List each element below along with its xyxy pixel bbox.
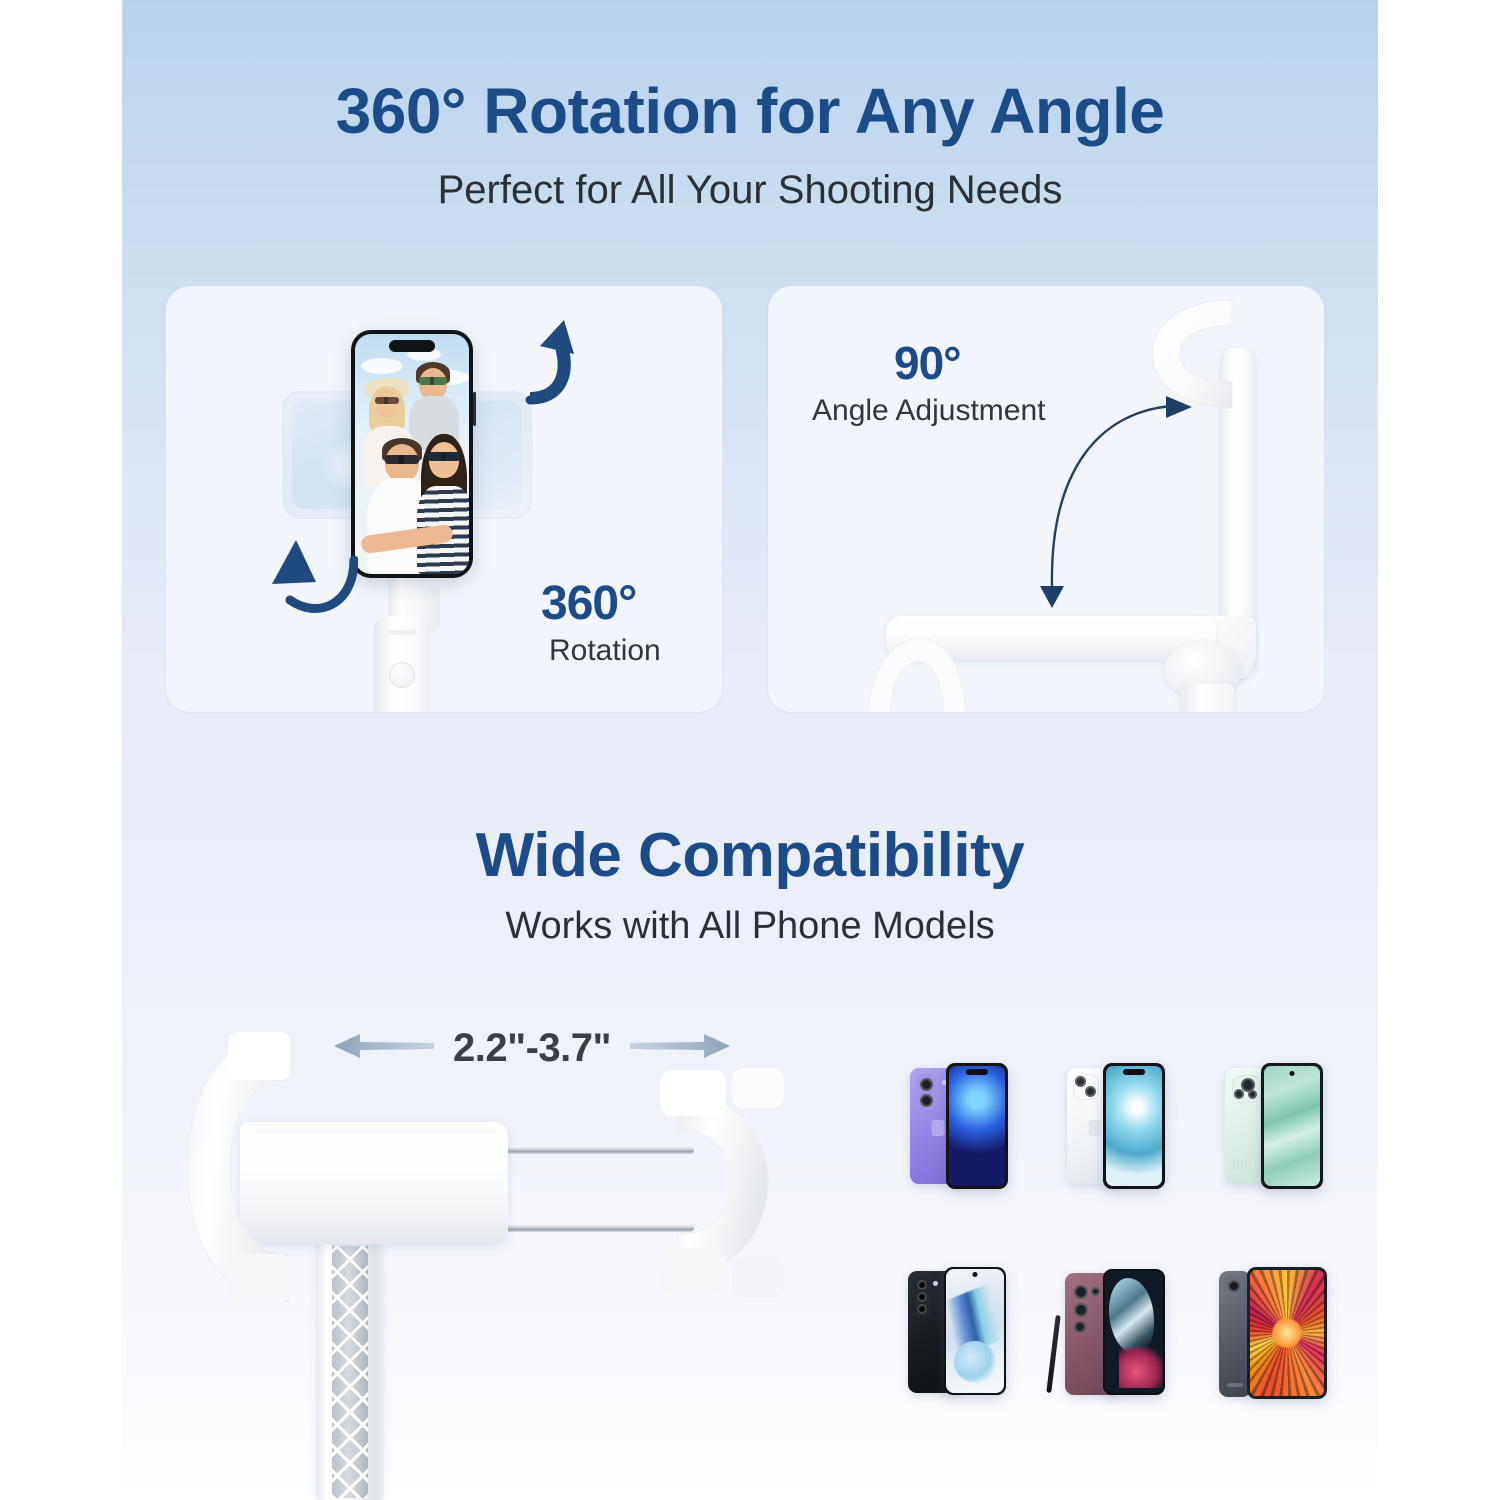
rotate-arrow-top-right-icon (504, 314, 584, 411)
rotate-arrow-bottom-left-icon (266, 538, 358, 629)
phone-screen (355, 334, 469, 574)
card-360-rotation: 360° Rotation (166, 286, 722, 712)
rotation-stat-label: Rotation (549, 634, 661, 668)
compatibility-section-title: Wide Compatibility (0, 820, 1500, 891)
phone-notch (389, 340, 435, 352)
stylus-pen (1047, 1315, 1061, 1393)
shutter-button[interactable] (389, 662, 415, 688)
pole-lattice-pattern (332, 1242, 368, 1498)
rotation-section-title: 360° Rotation for Any Angle (0, 74, 1500, 148)
device-thumb (888, 1263, 1023, 1438)
phone-portrait-mockup (351, 330, 473, 578)
stick-handle (373, 616, 431, 712)
rotation-section-subtitle: Perfect for All Your Shooting Needs (0, 168, 1500, 213)
triangle-right-arrowhead (1166, 396, 1192, 418)
device-thumb (1203, 1058, 1338, 1233)
clamp-left-jaw (184, 1026, 302, 1308)
telescoping-pole (316, 1236, 384, 1500)
compatibility-section-subtitle: Works with All Phone Models (0, 905, 1500, 948)
clamp-illustration (178, 1010, 818, 1500)
device-thumb (1045, 1263, 1180, 1438)
device-thumb (1203, 1263, 1338, 1438)
infographic-root: 360° Rotation for Any Angle Perfect for … (0, 0, 1500, 1500)
triangle-down-arrowhead (1040, 586, 1064, 608)
clamp-right-jaw (656, 1064, 788, 1300)
device-thumb (1045, 1058, 1180, 1233)
compatible-devices-grid (888, 1058, 1338, 1438)
angle-adjustment-path (768, 286, 1324, 712)
phone-side-button (473, 392, 476, 426)
device-thumb (888, 1058, 1023, 1233)
rotation-stat-value: 360° (541, 576, 636, 631)
card-90-angle: 90° Angle Adjustment (768, 286, 1324, 712)
